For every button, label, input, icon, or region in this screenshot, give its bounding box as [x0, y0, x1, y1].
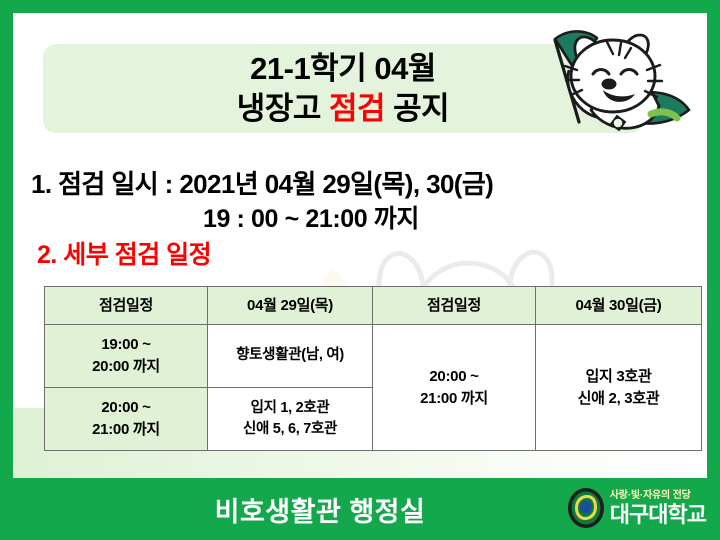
university-seal-icon	[567, 487, 605, 529]
notice-item-1: 1. 점검 일시 : 2021년 04월 29일(목), 30(금)	[31, 164, 493, 201]
title-line-1: 21-1학기 04월	[250, 49, 436, 89]
poster-inner-panel: 21-1학기 04월 냉장고 점검 공지	[13, 13, 707, 478]
table-header-cell-1: 점검일정	[45, 287, 208, 325]
row2-place-cell: 입지 1, 2호관 신애 5, 6, 7호관	[208, 388, 373, 451]
notice-poster: 21-1학기 04월 냉장고 점검 공지	[0, 0, 720, 540]
merged-time-line2: 21:00 까지	[376, 388, 532, 410]
schedule-table: 점검일정 04월 29일(목) 점검일정 04월 30일(금) 19:00 ~ …	[44, 286, 702, 451]
tiger-mascot-icon	[521, 18, 701, 148]
row2-time-line1: 20:00 ~	[48, 397, 204, 419]
table-header-cell-4: 04월 30일(금)	[536, 287, 702, 325]
notice-item-1-time: 19 : 00 ~ 21:00 까지	[203, 199, 419, 235]
table-header-row: 점검일정 04월 29일(목) 점검일정 04월 30일(금)	[45, 287, 702, 325]
row1-time-line1: 19:00 ~	[48, 334, 204, 356]
table-header-cell-2: 04월 29일(목)	[208, 287, 373, 325]
footer-band: 비호생활관 행정실 사랑·빛·자유의 전당 대구대학교	[0, 478, 720, 540]
merged-time-line1: 20:00 ~	[376, 366, 532, 388]
row2-place-line2: 신애 5, 6, 7호관	[211, 419, 369, 440]
merged-place-line1: 입지 3호관	[539, 366, 698, 388]
row2-time-line2: 21:00 까지	[48, 419, 204, 441]
row1-place-line1: 향토생활관(남, 여)	[211, 345, 369, 366]
row1-place-cell: 향토생활관(남, 여)	[208, 325, 373, 388]
row2-time-cell: 20:00 ~ 21:00 까지	[45, 388, 208, 451]
notice-item-2: 2. 세부 점검 일정	[37, 235, 211, 271]
merged-place-cell: 입지 3호관 신애 2, 3호관	[536, 325, 702, 451]
table-header-cell-3: 점검일정	[373, 287, 536, 325]
table-row: 19:00 ~ 20:00 까지 향토생활관(남, 여) 20:00 ~ 21:…	[45, 325, 702, 388]
row2-place-line1: 입지 1, 2호관	[211, 398, 369, 419]
row1-time-line2: 20:00 까지	[48, 356, 204, 378]
merged-place-line2: 신애 2, 3호관	[539, 388, 698, 410]
title-line-2-highlight: 점검	[329, 91, 385, 126]
logo-tagline: 사랑·빛·자유의 전당	[610, 491, 706, 501]
university-logo: 사랑·빛·자유의 전당 대구대학교	[567, 487, 706, 529]
row1-time-cell: 19:00 ~ 20:00 까지	[45, 325, 208, 388]
logo-name: 대구대학교	[610, 504, 706, 526]
merged-time-cell: 20:00 ~ 21:00 까지	[373, 325, 536, 451]
title-line-2-suffix: 공지	[385, 91, 449, 126]
title-line-2-prefix: 냉장고	[237, 91, 329, 126]
title-line-2: 냉장고 점검 공지	[237, 89, 449, 129]
